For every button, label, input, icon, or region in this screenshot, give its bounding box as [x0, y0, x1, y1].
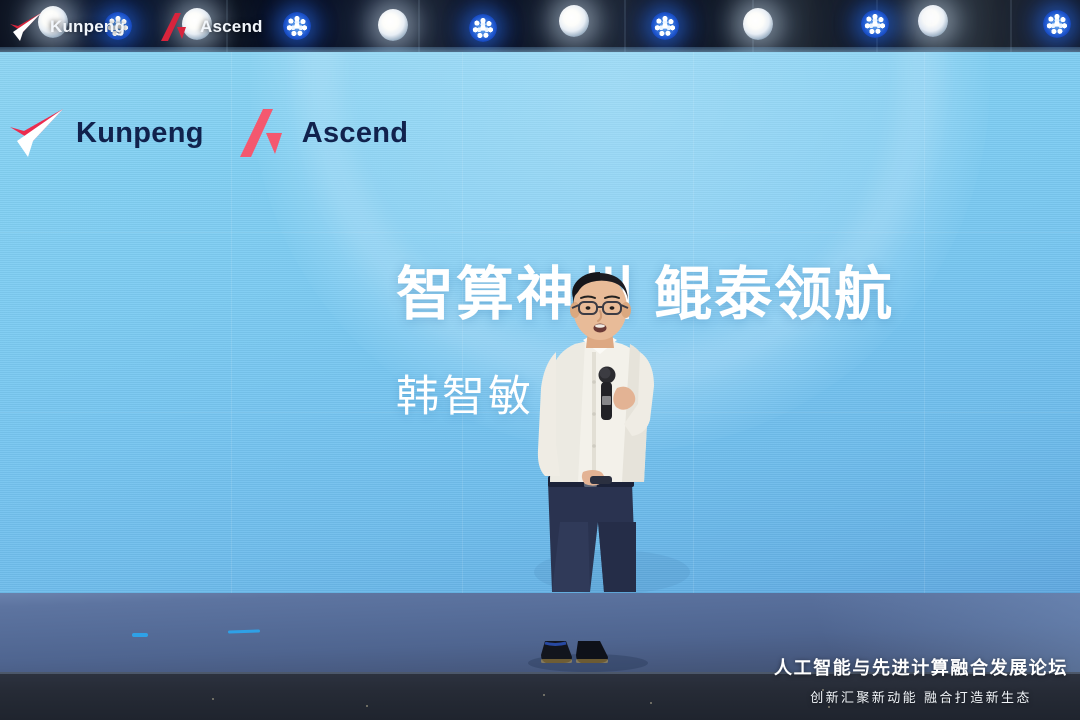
banner-logo-ascend: Ascend: [160, 12, 263, 42]
presentation-clicker: [590, 476, 612, 484]
forum-subtitle: 创新汇聚新动能 融合打造新生态: [774, 687, 1068, 706]
kunpeng-bird-icon: [8, 12, 44, 42]
speaker-person: [0, 52, 1080, 594]
blue-led-wash-light: [861, 10, 889, 38]
lighting-truss-band: Kunpeng Ascend: [0, 0, 1080, 54]
blue-led-wash-light: [1043, 10, 1071, 38]
banner-logo-kunpeng-label: Kunpeng: [50, 17, 125, 37]
blue-led-wash-light: [651, 12, 679, 40]
banner-logo-kunpeng: Kunpeng: [8, 12, 125, 42]
stage-photograph: Kunpeng Ascend Kunpeng: [0, 0, 1080, 720]
blue-led-wash-light: [469, 14, 497, 42]
led-presentation-screen: Kunpeng Ascend 智算神州 鲲泰领航 韩智敏: [0, 52, 1080, 594]
white-spotlight: [559, 5, 589, 37]
white-spotlight: [378, 9, 408, 41]
white-spotlight: [918, 5, 948, 37]
banner-logo-ascend-label: Ascend: [200, 17, 263, 37]
ascend-a-icon: [160, 12, 194, 42]
forum-title: 人工智能与先进计算融合发展论坛: [774, 654, 1068, 680]
blue-led-wash-light: [283, 12, 311, 40]
white-spotlight: [743, 8, 773, 40]
forum-branding-overlay: 人工智能与先进计算融合发展论坛 创新汇聚新动能 融合打造新生态: [774, 654, 1068, 706]
